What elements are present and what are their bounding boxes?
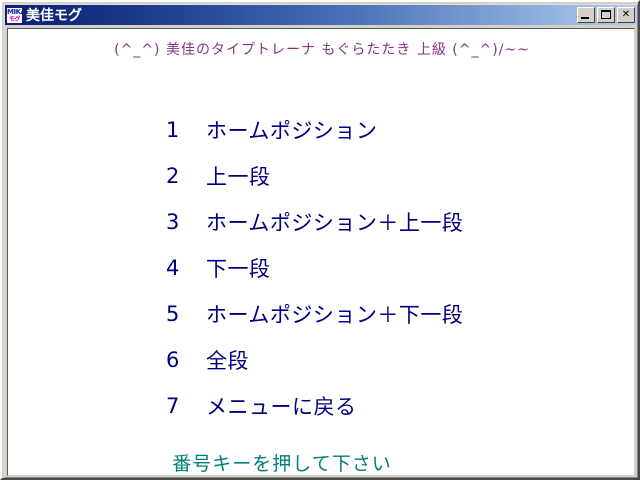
menu-item-label: メニューに戻る xyxy=(206,391,606,421)
menu-item-6[interactable]: 6 全段 xyxy=(166,337,606,383)
minimize-button[interactable] xyxy=(577,7,595,23)
menu-item-label: ホームポジション＋上一段 xyxy=(206,207,606,237)
window-controls: ✕ xyxy=(577,7,635,23)
menu-item-number: 3 xyxy=(166,210,206,234)
menu-item-label: ホームポジション xyxy=(206,115,606,145)
menu-item-number: 2 xyxy=(166,164,206,188)
close-icon: ✕ xyxy=(618,8,634,22)
app-icon-bottom-text: モグ xyxy=(7,16,22,23)
client-area: (^_^) 美佳のタイプトレーナ もぐらたたき 上級 (^_^)/~~ 1 ホー… xyxy=(7,28,635,476)
window-title: 美佳モグ xyxy=(26,5,577,25)
menu-item-number: 6 xyxy=(166,348,206,372)
program-subtitle: (^_^) 美佳のタイプトレーナ もぐらたたき 上級 (^_^)/~~ xyxy=(8,39,635,59)
maximize-button[interactable] xyxy=(597,7,615,23)
menu-item-number: 7 xyxy=(166,394,206,418)
input-prompt: 番号キーを押して下さい xyxy=(8,449,635,476)
menu-item-7[interactable]: 7 メニューに戻る xyxy=(166,383,606,429)
menu-item-4[interactable]: 4 下一段 xyxy=(166,245,606,291)
menu-item-1[interactable]: 1 ホームポジション xyxy=(166,107,606,153)
app-icon-top-text: MIKA xyxy=(7,8,22,16)
menu-item-2[interactable]: 2 上一段 xyxy=(166,153,606,199)
menu-item-label: 上一段 xyxy=(206,161,606,191)
menu-list: 1 ホームポジション 2 上一段 3 ホームポジション＋上一段 4 下一段 5 … xyxy=(166,107,606,429)
menu-item-number: 1 xyxy=(166,118,206,142)
minimize-icon xyxy=(581,17,589,19)
menu-item-5[interactable]: 5 ホームポジション＋下一段 xyxy=(166,291,606,337)
menu-item-number: 4 xyxy=(166,256,206,280)
menu-item-number: 5 xyxy=(166,302,206,326)
title-bar[interactable]: MIKA モグ 美佳モグ ✕ xyxy=(5,5,637,25)
close-button[interactable]: ✕ xyxy=(617,7,635,23)
menu-item-label: 下一段 xyxy=(206,253,606,283)
menu-item-label: 全段 xyxy=(206,345,606,375)
app-icon[interactable]: MIKA モグ xyxy=(6,7,23,24)
menu-item-label: ホームポジション＋下一段 xyxy=(206,299,606,329)
menu-item-3[interactable]: 3 ホームポジション＋上一段 xyxy=(166,199,606,245)
application-window: MIKA モグ 美佳モグ ✕ (^_^) 美佳のタイプトレーナ もぐらたたき 上… xyxy=(0,0,640,480)
maximize-icon xyxy=(601,10,611,19)
